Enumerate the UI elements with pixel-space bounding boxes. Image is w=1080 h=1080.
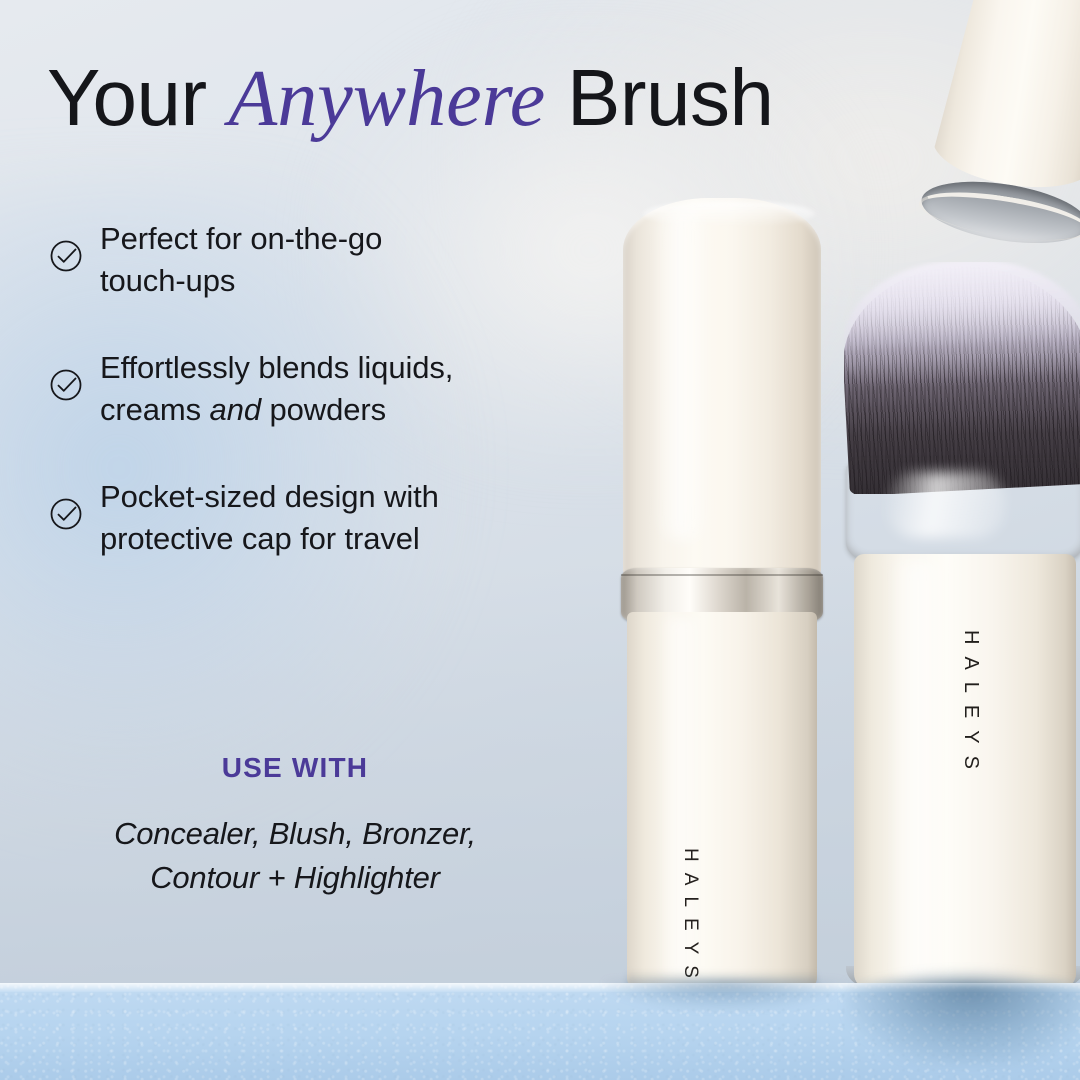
use-with-products: Concealer, Blush, Bronzer,Contour + High… — [48, 812, 542, 900]
brand-logo-right: HALEYS — [959, 630, 982, 781]
bullet-line-2: creams — [100, 392, 210, 427]
open-brush-barrel: HALEYS — [854, 554, 1076, 988]
cap-highlight — [657, 210, 709, 540]
capped-brush-barrel: HALEYS — [627, 612, 817, 988]
bullet-text: Perfect for on-the-gotouch-ups — [100, 218, 382, 301]
bullet-line-1: Perfect for on-the-go — [100, 221, 382, 256]
ledge-shadow-left-product — [604, 980, 844, 1010]
brand-logo-left: HALEYS — [679, 848, 701, 989]
feature-bullet-list: Perfect for on-the-gotouch-ups Effortles… — [48, 218, 578, 559]
check-circle-icon — [48, 238, 84, 274]
check-circle-icon — [48, 496, 84, 532]
use-with-title: USE WITH — [48, 752, 542, 784]
list-item: Perfect for on-the-gotouch-ups — [48, 218, 578, 301]
use-with-line-1: Concealer, Blush, Bronzer, — [114, 816, 476, 851]
product-marketing-image: HALEYS HALEYS Your Anywhere Brush — [0, 0, 1080, 1080]
product-brush-capped: HALEYS — [616, 198, 828, 988]
use-with-section: USE WITH Concealer, Blush, Bronzer,Conto… — [48, 752, 542, 900]
page-title: Your Anywhere Brush — [47, 56, 774, 141]
product-brush-open: HALEYS — [840, 262, 1080, 988]
bullet-line-2: touch-ups — [100, 263, 235, 298]
bristle-white-tips — [844, 262, 1080, 386]
bullet-text: Effortlessly blends liquids,creams and p… — [100, 347, 453, 430]
cap-body — [928, 0, 1080, 198]
list-item: Effortlessly blends liquids,creams and p… — [48, 347, 578, 430]
list-item: Pocket-sized design withprotective cap f… — [48, 476, 578, 559]
use-with-line-2: Contour + Highlighter — [150, 860, 440, 895]
bullet-line-2-italic: and — [210, 392, 261, 427]
ferrule-highlight — [886, 472, 1006, 538]
ledge-shadow-right-product — [846, 983, 1080, 1065]
bullet-line-2-tail: powders — [261, 392, 386, 427]
headline-part-1: Your — [47, 53, 228, 142]
headline-part-2: Brush — [545, 53, 773, 142]
bullet-line-2: protective cap for travel — [100, 521, 420, 556]
open-barrel-highlight — [890, 562, 946, 982]
blue-surface-ledge — [0, 983, 1080, 1080]
bullet-text: Pocket-sized design withprotective cap f… — [100, 476, 439, 559]
headline-accent-word: Anywhere — [228, 55, 545, 143]
capped-brush-cap — [623, 198, 821, 576]
bullet-line-1: Pocket-sized design with — [100, 479, 439, 514]
brush-ferrule — [846, 458, 1080, 562]
check-circle-icon — [48, 367, 84, 403]
bullet-line-1: Effortlessly blends liquids, — [100, 350, 453, 385]
